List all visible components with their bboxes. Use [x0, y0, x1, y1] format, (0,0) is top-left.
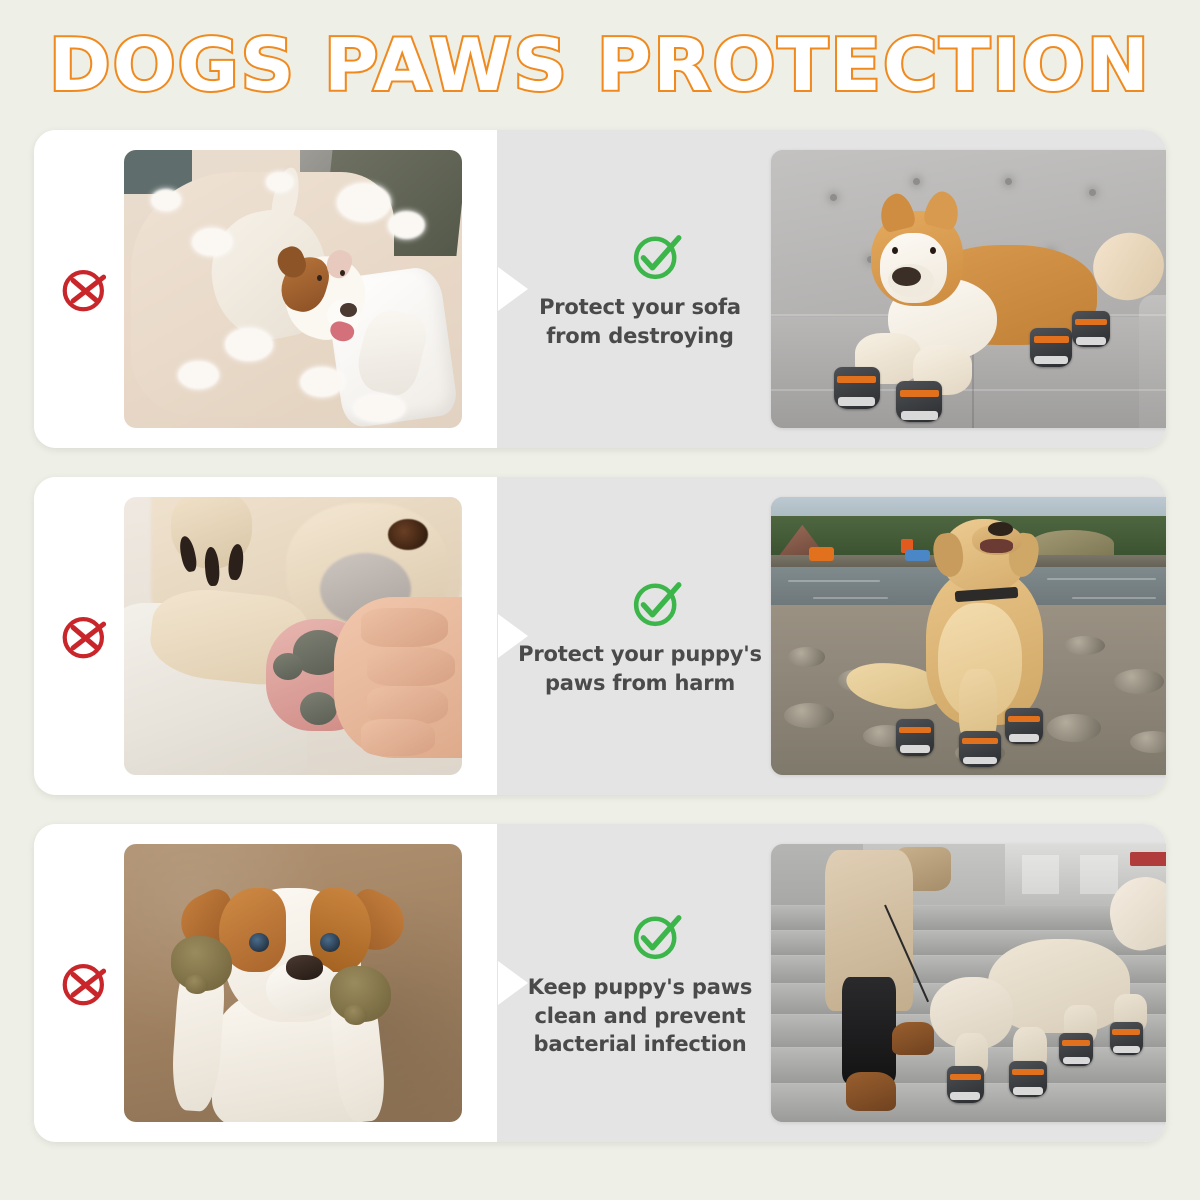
green-check-circle-icon [628, 574, 686, 632]
after-photo-dog-on-steps [771, 844, 1166, 1122]
benefit-line-2: paws from harm [518, 669, 762, 698]
benefit-line-2: from destroying [539, 322, 741, 351]
benefit-line-2: clean and prevent [528, 1002, 752, 1031]
before-photo-injured-paw [124, 497, 462, 775]
before-pane [34, 824, 497, 1142]
red-x-circle-icon [58, 609, 112, 663]
red-x-circle-icon [58, 956, 112, 1010]
benefit-line-1: Protect your puppy's [518, 640, 762, 669]
feature-card-paws-harm: Protect your puppy's paws from harm [34, 477, 1166, 795]
after-photo-shiba-on-sofa [771, 150, 1166, 428]
benefit-line-1: Protect your sofa [539, 293, 741, 322]
benefit-text-block: Protect your sofa from destroying [497, 227, 765, 351]
before-photo-shredded-pillow [124, 150, 462, 428]
green-check-circle-icon [628, 227, 686, 285]
benefit-text-block: Protect your puppy's paws from harm [497, 574, 765, 698]
before-pane [34, 130, 497, 448]
feature-rows: Protect your sofa from destroying [0, 130, 1200, 1142]
benefit-line-3: bacterial infection [528, 1030, 752, 1059]
after-pane: Keep puppy's paws clean and prevent bact… [497, 824, 1166, 1142]
after-pane: Protect your puppy's paws from harm [497, 477, 1166, 795]
benefit-text-block: Keep puppy's paws clean and prevent bact… [497, 907, 765, 1060]
benefit-line-1: Keep puppy's paws [528, 973, 752, 1002]
after-pane: Protect your sofa from destroying [497, 130, 1166, 448]
header: DOGS PAWS PROTECTION [0, 0, 1200, 130]
before-photo-muddy-paws [124, 844, 462, 1122]
feature-card-sofa: Protect your sofa from destroying [34, 130, 1166, 448]
after-photo-golden-retriever-riverbank [771, 497, 1166, 775]
page-title: DOGS PAWS PROTECTION [49, 23, 1151, 107]
green-check-circle-icon [628, 907, 686, 965]
before-pane [34, 477, 497, 795]
feature-card-clean-paws: Keep puppy's paws clean and prevent bact… [34, 824, 1166, 1142]
red-x-circle-icon [58, 262, 112, 316]
